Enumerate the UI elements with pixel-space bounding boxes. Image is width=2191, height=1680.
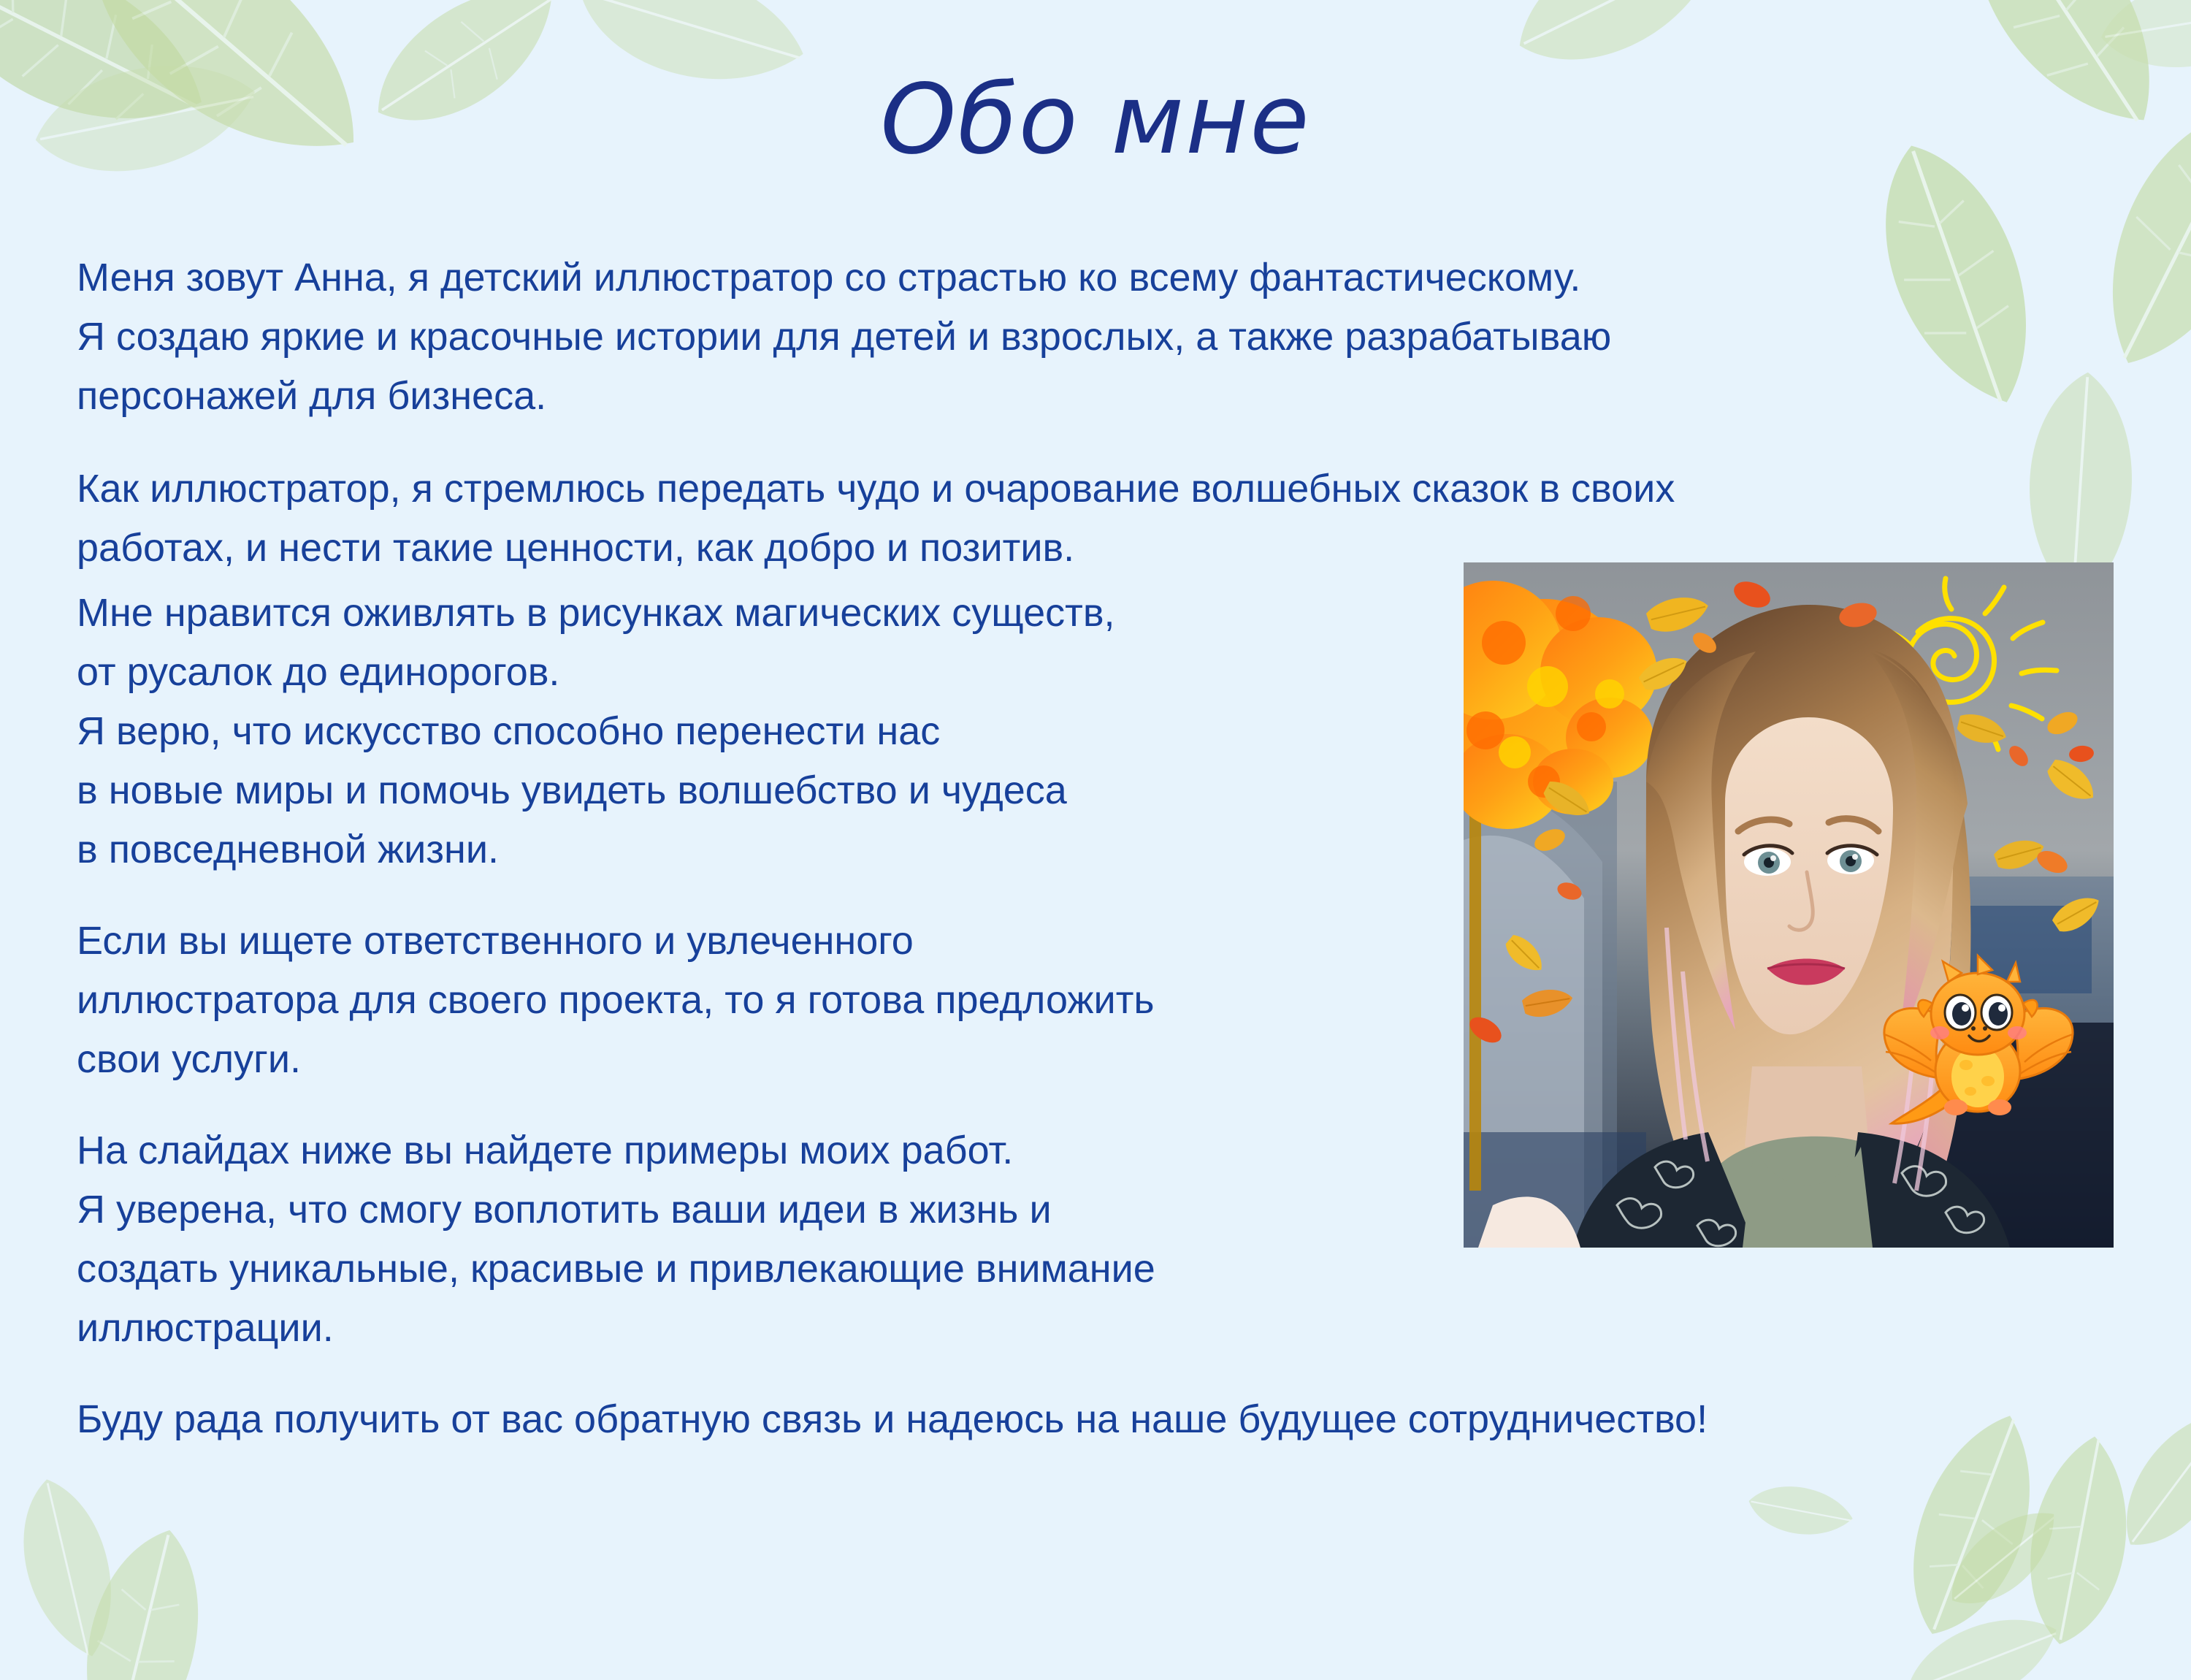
slide-about-me: Обо мне Меня зовут Анна, я детский иллюс… [0, 0, 2191, 1680]
paragraph-closing: Буду рада получить от вас обратную связь… [77, 1390, 2122, 1449]
leaf-icon [0, 1462, 148, 1675]
author-photo [1464, 562, 2114, 1248]
leaf-icon [1739, 1465, 1862, 1559]
text-line: Я создаю яркие и красочные истории для д… [77, 308, 2122, 367]
paragraph-intro: Меня зовут Анна, я детский иллюстратор с… [77, 248, 2122, 426]
leaf-icon [27, 1504, 250, 1680]
leaf-icon [1987, 1419, 2176, 1663]
text-line: Меня зовут Анна, я детский иллюстратор с… [77, 248, 2122, 308]
leaf-icon [1921, 1479, 2089, 1639]
text-line: иллюстрации. [77, 1299, 2122, 1358]
text-line: персонажей для бизнеса. [77, 367, 2122, 426]
text-line: Буду рада получить от вас обратную связь… [77, 1390, 2122, 1449]
text-line: создать уникальные, красивые и привлекаю… [77, 1240, 2122, 1299]
paragraph-craft: Как иллюстратор, я стремлюсь передать чу… [77, 459, 2122, 578]
text-line: Как иллюстратор, я стремлюсь передать чу… [77, 459, 2122, 519]
leaf-icon [1884, 1581, 2081, 1680]
page-title: Обо мне [0, 67, 2191, 173]
